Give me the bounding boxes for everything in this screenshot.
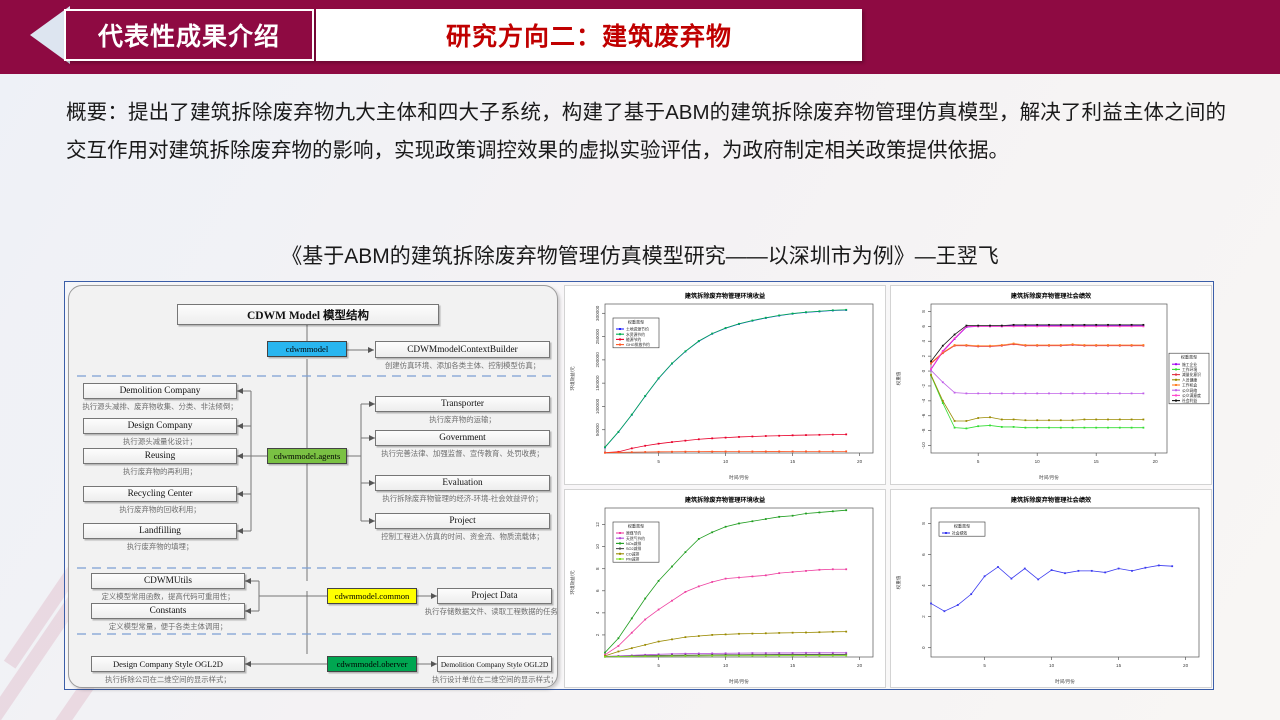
svg-text:15: 15 xyxy=(1116,663,1122,668)
svg-text:5: 5 xyxy=(983,663,986,668)
svg-text:公众网络: 公众网络 xyxy=(1182,388,1197,393)
summary-paragraph: 概要：提出了建筑拆除废弃物九大主体和四大子系统，构建了基于ABM的建筑拆除废弃物… xyxy=(66,94,1226,170)
cdwm-model-diagram: CDWM Model 模型结构 cdwmmodel cdwmmodel.agen… xyxy=(68,285,558,688)
node-utils-caption: 定义模型常用函数，提高代码可重用性； xyxy=(75,591,261,602)
package-common-label: cdwmmodel.common xyxy=(335,591,410,601)
svg-text:公众满意度: 公众满意度 xyxy=(1182,393,1201,398)
svg-text:减量化意识: 减量化意识 xyxy=(1182,372,1201,377)
svg-text:权重类型: 权重类型 xyxy=(628,522,644,528)
chart-card-env-benefit-top[interactable]: 建筑拆除废弃物管理环境收益 51015205000010000015000020… xyxy=(564,285,886,485)
svg-text:0: 0 xyxy=(921,369,926,372)
svg-text:原煤节约: 原煤节约 xyxy=(626,530,641,535)
node-designstyle-label: Design Company Style OGL2D xyxy=(113,659,223,669)
node-project-caption: 控制工程进入仿真的时间、资金流、物质流载体； xyxy=(365,531,558,542)
header-badge: 代表性成果介绍 xyxy=(64,9,314,61)
svg-text:-6: -6 xyxy=(921,413,926,418)
package-observer-label: cdwmmodel.oberver xyxy=(337,659,408,669)
node-demolitionstyle-label: Demolition Company Style OGL2D xyxy=(441,660,548,669)
svg-text:NOx减排: NOx减排 xyxy=(626,541,641,546)
node-projectdata-label: Project Data xyxy=(471,591,517,601)
node-design-label: Design Company xyxy=(128,421,193,431)
svg-text:权重类型: 权重类型 xyxy=(1181,354,1197,360)
node-constants-caption: 定义模型常量，便于各类主体调用； xyxy=(75,621,261,632)
node-recycling-label: Recycling Center xyxy=(128,489,193,499)
node-landfilling-caption: 执行废弃物的填埋； xyxy=(83,541,237,552)
node-utils-label: CDWMUtils xyxy=(144,576,192,586)
node-recycling-caption: 执行废弃物的回收利用； xyxy=(83,504,237,515)
svg-text:10: 10 xyxy=(723,663,729,668)
svg-text:-4: -4 xyxy=(921,398,926,403)
svg-text:施工企业: 施工企业 xyxy=(1182,362,1197,367)
page-title: 研究方向二：建筑废弃物 xyxy=(446,17,732,53)
svg-text:150000: 150000 xyxy=(595,375,600,391)
svg-text:50000: 50000 xyxy=(595,423,600,436)
node-recycling[interactable]: Recycling Center xyxy=(83,486,237,502)
svg-text:8: 8 xyxy=(595,566,600,569)
header-badge-label: 代表性成果介绍 xyxy=(98,17,280,53)
node-project-label: Project xyxy=(449,516,475,526)
node-project[interactable]: Project xyxy=(375,513,550,529)
svg-text:-8: -8 xyxy=(921,428,926,433)
node-reusing-label: Reusing xyxy=(145,451,175,461)
svg-text:-10: -10 xyxy=(921,442,926,449)
package-cdwmmodel[interactable]: cdwmmodel xyxy=(267,341,347,357)
svg-text:5: 5 xyxy=(657,663,660,668)
node-constants-label: Constants xyxy=(150,606,187,616)
node-utils[interactable]: CDWMUtils xyxy=(91,573,245,589)
node-designstyle[interactable]: Design Company Style OGL2D xyxy=(91,656,245,672)
svg-text:15: 15 xyxy=(790,459,796,464)
svg-text:水资源节约: 水资源节约 xyxy=(626,332,645,337)
svg-text:4: 4 xyxy=(921,583,926,586)
svg-text:时间/月份: 时间/月份 xyxy=(1055,678,1075,685)
package-common[interactable]: cdwmmodel.common xyxy=(327,588,417,604)
chart-card-social-perf-bottom[interactable]: 建筑拆除废弃物管理社会绩效 510152002468时间/月份权重值权重类型社会… xyxy=(890,489,1212,689)
node-designstyle-caption: 执行拆除公司在二维空间的显示样式； xyxy=(79,674,257,685)
node-demolitionstyle[interactable]: Demolition Company Style OGL2D xyxy=(437,656,552,672)
svg-text:2: 2 xyxy=(921,614,926,617)
svg-text:社会利益: 社会利益 xyxy=(1182,398,1197,403)
svg-text:5: 5 xyxy=(657,459,660,464)
node-government-caption: 执行完善法律、加强监督、宣传教育、处罚收费； xyxy=(367,448,558,459)
node-ctxbuilder-caption: 创建仿真环境、添加各类主体、控制模型仿真； xyxy=(375,360,550,371)
svg-text:8: 8 xyxy=(921,310,926,313)
svg-text:6: 6 xyxy=(921,325,926,328)
node-transporter[interactable]: Transporter xyxy=(375,396,550,412)
node-reusing[interactable]: Reusing xyxy=(83,448,237,464)
svg-text:15: 15 xyxy=(1094,459,1100,464)
node-design[interactable]: Design Company xyxy=(83,418,237,434)
svg-text:工作环境: 工作环境 xyxy=(1182,367,1197,372)
svg-text:环境效益/元: 环境效益/元 xyxy=(569,366,576,391)
svg-text:0: 0 xyxy=(921,645,926,648)
svg-text:200000: 200000 xyxy=(595,352,600,368)
svg-text:SO2减排: SO2减排 xyxy=(626,546,641,551)
svg-text:20: 20 xyxy=(1183,663,1189,668)
svg-text:100000: 100000 xyxy=(595,398,600,414)
package-agents[interactable]: cdwmmodel.agents xyxy=(267,448,347,464)
svg-text:10: 10 xyxy=(1049,663,1055,668)
node-demolition-caption: 执行源头减排、废弃物收集、分类、非法倾倒； xyxy=(73,401,247,412)
svg-text:20: 20 xyxy=(1153,459,1159,464)
header-title-plate: 研究方向二：建筑废弃物 xyxy=(316,9,862,61)
chart-grid: 建筑拆除废弃物管理环境收益 51015205000010000015000020… xyxy=(564,285,1212,688)
node-constants[interactable]: Constants xyxy=(91,603,245,619)
chart-plot-3: 510152002468时间/月份权重值权重类型社会绩效 xyxy=(891,490,1211,689)
chart-plot-0: 5101520500001000001500002000002500003000… xyxy=(565,286,885,485)
node-reusing-caption: 执行废弃物的再利用； xyxy=(83,466,237,477)
svg-text:CO减排: CO减排 xyxy=(626,551,639,556)
svg-text:人员健康: 人员健康 xyxy=(1182,377,1197,382)
header-bottom-rule xyxy=(0,70,1280,74)
node-ctxbuilder-label: CDWMmodelContextBuilder xyxy=(407,345,518,355)
svg-text:时间/月份: 时间/月份 xyxy=(1039,474,1059,481)
node-evaluation[interactable]: Evaluation xyxy=(375,475,550,491)
svg-text:能源节约: 能源节约 xyxy=(626,337,641,342)
node-transporter-caption: 执行废弃物的运输； xyxy=(375,414,550,425)
node-design-caption: 执行源头减量化设计； xyxy=(83,436,237,447)
svg-text:权重值: 权重值 xyxy=(895,575,902,589)
svg-text:15: 15 xyxy=(790,663,796,668)
svg-text:天然气节约: 天然气节约 xyxy=(626,535,645,540)
svg-text:权重类型: 权重类型 xyxy=(954,522,970,528)
node-projectdata-caption: 执行存储数据文件、读取工程数据的任务； xyxy=(409,606,558,617)
svg-text:4: 4 xyxy=(921,340,926,343)
svg-text:2: 2 xyxy=(595,633,600,636)
diagram-title-label: CDWM Model 模型结构 xyxy=(247,307,369,323)
svg-text:时间/月份: 时间/月份 xyxy=(729,678,749,685)
package-observer[interactable]: cdwmmodel.oberver xyxy=(327,656,417,672)
node-transporter-label: Transporter xyxy=(441,399,484,409)
chart-card-social-perf-top[interactable]: 建筑拆除废弃物管理社会绩效 5101520-10-8-6-4-202468时间/… xyxy=(890,285,1212,485)
svg-text:时间/月份: 时间/月份 xyxy=(729,474,749,481)
diagram-title-box: CDWM Model 模型结构 xyxy=(177,304,439,325)
node-evaluation-caption: 执行拆除废弃物管理的经济-环境-社会效益评价； xyxy=(365,493,558,504)
svg-text:5: 5 xyxy=(977,459,980,464)
node-government-label: Government xyxy=(439,433,485,443)
svg-text:300000: 300000 xyxy=(595,305,600,321)
svg-text:250000: 250000 xyxy=(595,328,600,344)
node-landfilling-label: Landfilling xyxy=(139,526,181,536)
svg-text:10: 10 xyxy=(1035,459,1041,464)
header-chevron-icon xyxy=(0,0,70,70)
package-agents-label: cdwmmodel.agents xyxy=(274,451,341,461)
node-demolitionstyle-caption: 执行设计单位在二维空间的显示样式； xyxy=(409,674,558,685)
svg-text:工作机会: 工作机会 xyxy=(1182,383,1197,388)
svg-text:权重类型: 权重类型 xyxy=(628,319,644,325)
node-landfilling[interactable]: Landfilling xyxy=(83,523,237,539)
node-projectdata[interactable]: Project Data xyxy=(437,588,552,604)
content-frame: CDWM Model 模型结构 cdwmmodel cdwmmodel.agen… xyxy=(64,281,1214,690)
paper-title: 《基于ABM的建筑拆除废弃物管理仿真模型研究——以深圳市为例》—王翌飞 xyxy=(0,240,1280,270)
node-demolition[interactable]: Demolition Company xyxy=(83,383,237,399)
svg-text:-2: -2 xyxy=(921,383,926,388)
svg-text:PM减排: PM减排 xyxy=(626,556,639,561)
node-government[interactable]: Government xyxy=(375,430,550,446)
chart-plot-2: 510152024681012时间/月份环境效益/元权重类型原煤节约天然气节约N… xyxy=(565,490,885,689)
svg-text:环境效益/元: 环境效益/元 xyxy=(569,569,576,594)
svg-text:社会绩效: 社会绩效 xyxy=(952,530,967,535)
svg-text:8: 8 xyxy=(921,521,926,524)
svg-text:4: 4 xyxy=(595,611,600,614)
svg-text:土地资源节约: 土地资源节约 xyxy=(626,327,649,332)
svg-text:12: 12 xyxy=(595,521,600,527)
package-cdwmmodel-label: cdwmmodel xyxy=(286,344,328,354)
svg-text:权重值: 权重值 xyxy=(895,371,902,385)
svg-text:2: 2 xyxy=(921,354,926,357)
node-ctxbuilder[interactable]: CDWMmodelContextBuilder xyxy=(375,341,550,358)
svg-text:6: 6 xyxy=(595,589,600,592)
svg-text:10: 10 xyxy=(595,543,600,549)
chart-plot-1: 5101520-10-8-6-4-202468时间/月份权重值权重类型施工企业工… xyxy=(891,286,1211,485)
chart-card-env-benefit-bottom[interactable]: 建筑拆除废弃物管理环境收益 510152024681012时间/月份环境效益/元… xyxy=(564,489,886,689)
svg-text:10: 10 xyxy=(723,459,729,464)
svg-text:GHG排放节约: GHG排放节约 xyxy=(626,342,650,347)
node-evaluation-label: Evaluation xyxy=(442,478,482,488)
svg-text:20: 20 xyxy=(857,459,863,464)
svg-text:20: 20 xyxy=(857,663,863,668)
node-demolition-label: Demolition Company xyxy=(120,386,201,396)
svg-text:6: 6 xyxy=(921,552,926,555)
